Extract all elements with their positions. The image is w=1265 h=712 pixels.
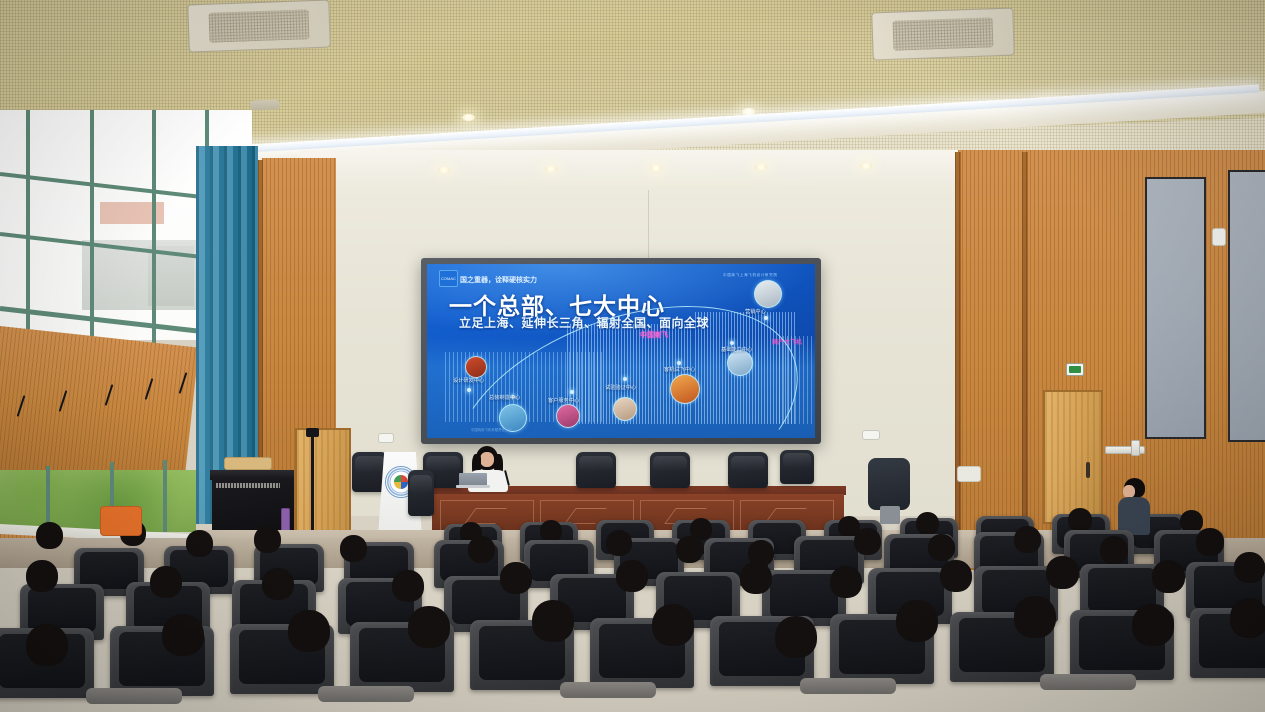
window-mullion-lower-v3 bbox=[163, 460, 167, 532]
center-label-2: 总装制造中心 bbox=[489, 394, 520, 401]
comac-logo-text: COMAC bbox=[441, 277, 456, 281]
audience-head-d3 bbox=[288, 610, 330, 652]
center-label-7: 营销中心 bbox=[745, 308, 766, 315]
audience-head-d4 bbox=[408, 606, 450, 648]
center-label-3: 客户服务中心 bbox=[548, 397, 579, 404]
side-door-left[interactable] bbox=[295, 428, 351, 544]
audience-head-d8 bbox=[896, 600, 938, 642]
acoustic-panel-2 bbox=[1228, 170, 1265, 442]
audience-head-b3 bbox=[186, 530, 213, 557]
left-wall-switch-icon[interactable] bbox=[378, 433, 394, 443]
piano-keys bbox=[216, 483, 280, 488]
exit-sign bbox=[1066, 363, 1084, 376]
lectern-chair[interactable] bbox=[408, 470, 434, 516]
audience-head-c6 bbox=[616, 560, 648, 592]
arc-node-1 bbox=[467, 388, 471, 392]
slide-header-note: 中国商飞上海飞机设计研究院 bbox=[723, 273, 778, 278]
door-handle-icon[interactable] bbox=[1086, 462, 1090, 478]
side-chair-right-base bbox=[880, 506, 900, 524]
head-table-chair-2[interactable] bbox=[576, 452, 616, 488]
slide-brand-tagline: 国之重器，诠释硬核实力 bbox=[460, 275, 537, 285]
audience-head-d9 bbox=[1014, 596, 1056, 638]
audience-head-d2 bbox=[162, 614, 204, 656]
audience-head-b14 bbox=[1196, 528, 1224, 556]
arc-node-3 bbox=[570, 390, 574, 394]
audience-head-c4 bbox=[392, 570, 424, 602]
downlight-icon-2 bbox=[462, 114, 475, 121]
orange-chair[interactable] bbox=[100, 506, 142, 536]
audience-head-c10 bbox=[1046, 556, 1079, 589]
piano-sheet-music bbox=[224, 457, 272, 470]
audience-head-a4 bbox=[916, 512, 939, 535]
audience-head-d7 bbox=[775, 616, 817, 658]
stage-downlight-1 bbox=[438, 167, 450, 173]
stage-downlight-5 bbox=[860, 163, 872, 169]
head-table-chair-3[interactable] bbox=[650, 452, 690, 488]
arc-node-7 bbox=[764, 316, 768, 320]
audience-head-b11 bbox=[928, 534, 955, 561]
audience-head-d1 bbox=[26, 624, 68, 666]
wood-wall-right bbox=[958, 150, 1265, 570]
camera-head-icon bbox=[306, 428, 319, 437]
center-badge-7 bbox=[754, 280, 782, 308]
audience-head-d11 bbox=[1230, 598, 1265, 638]
audience-head-a1 bbox=[540, 520, 562, 542]
center-label-4: 试验验证中心 bbox=[605, 384, 636, 391]
audience-head-c7 bbox=[740, 562, 772, 594]
ac-cassette-icon-2 bbox=[871, 8, 1015, 61]
audience-head-d5 bbox=[532, 600, 574, 642]
bottle-icon bbox=[281, 508, 290, 532]
wall-sensor-icon bbox=[1212, 228, 1226, 246]
audience-head-c8 bbox=[830, 566, 862, 598]
head-table-chair-4[interactable] bbox=[728, 452, 768, 488]
audience-head-d10 bbox=[1132, 604, 1174, 646]
seat-armrest-3 bbox=[560, 682, 656, 698]
audience-head-b7 bbox=[606, 530, 632, 556]
arc-node-4 bbox=[623, 377, 627, 381]
center-badge-6 bbox=[727, 350, 753, 376]
center-badge-5 bbox=[670, 374, 700, 404]
lecture-hall-photo: COMAC 国之重器，诠释硬核实力 中国商飞上海飞机设计研究院 一个总部、七大中… bbox=[0, 0, 1265, 712]
presenter-face bbox=[480, 452, 494, 467]
audience-head-b1 bbox=[36, 522, 63, 549]
seat-armrest-2 bbox=[318, 686, 414, 702]
head-table-chair-5[interactable] bbox=[780, 450, 814, 484]
center-label-5: 客机试飞中心 bbox=[664, 366, 695, 373]
stage-downlight-3 bbox=[650, 165, 662, 171]
audience-head-b8 bbox=[676, 536, 703, 563]
center-label-6: 基础能力中心 bbox=[721, 346, 752, 353]
slide-footer-note: 中国商用飞机有限责任公司 bbox=[471, 427, 512, 432]
right-wall-switch-icon[interactable] bbox=[862, 430, 880, 440]
panic-bar-mount-icon bbox=[1131, 440, 1140, 456]
wood-wall-right-seam bbox=[1022, 152, 1028, 570]
comac-logo-icon: COMAC bbox=[439, 270, 458, 287]
led-screen: COMAC 国之重器，诠释硬核实力 中国商飞上海飞机设计研究院 一个总部、七大中… bbox=[427, 264, 815, 438]
wood-wall-right-seam-2 bbox=[955, 152, 961, 570]
audience-head-c11 bbox=[1152, 560, 1185, 593]
center-label-1: 设计研发中心 bbox=[453, 377, 484, 384]
window-mullion-v3 bbox=[152, 110, 156, 362]
audience-head-b10 bbox=[854, 528, 881, 555]
audience-head-b12 bbox=[1014, 526, 1041, 553]
audience-head-b6 bbox=[468, 536, 495, 563]
arc-node-5 bbox=[677, 361, 681, 365]
center-badge-3 bbox=[556, 404, 580, 428]
audience-head-d6 bbox=[652, 604, 694, 646]
stage-downlight-4 bbox=[755, 164, 767, 170]
audience-head-b13 bbox=[1100, 536, 1128, 564]
seat-armrest-5 bbox=[1040, 674, 1136, 690]
side-door-right[interactable] bbox=[1043, 390, 1103, 524]
seat-armrest-1 bbox=[86, 688, 182, 704]
stage-downlight-2 bbox=[545, 166, 557, 172]
center-badge-1 bbox=[465, 356, 487, 378]
audience-head-b4 bbox=[254, 526, 281, 553]
audience-head-c12 bbox=[1234, 552, 1265, 583]
ceiling-vent-icon bbox=[250, 99, 280, 110]
window-mullion-v1 bbox=[26, 110, 30, 342]
side-chair-right[interactable] bbox=[868, 458, 910, 510]
audience-head-a5 bbox=[1068, 508, 1092, 532]
standing-attendee bbox=[1118, 478, 1152, 534]
audience-head-c2 bbox=[150, 566, 182, 598]
right-wall-panel-icon[interactable] bbox=[957, 466, 981, 482]
window-mullion-v2 bbox=[90, 110, 94, 352]
acoustic-panel-1 bbox=[1145, 177, 1206, 439]
camera-tripod bbox=[311, 432, 314, 532]
center-badge-4 bbox=[613, 397, 637, 421]
audience-head-c3 bbox=[262, 568, 294, 600]
audience-head-c1 bbox=[26, 560, 58, 592]
audience-head-c9 bbox=[940, 560, 972, 592]
ac-cassette-icon bbox=[187, 0, 331, 52]
presenter-laptop-base[interactable] bbox=[456, 485, 490, 488]
seat-armrest-4 bbox=[800, 678, 896, 694]
arc-node-6 bbox=[730, 341, 734, 345]
audience-head-c5 bbox=[500, 562, 532, 594]
audience-head-b5 bbox=[340, 535, 367, 562]
